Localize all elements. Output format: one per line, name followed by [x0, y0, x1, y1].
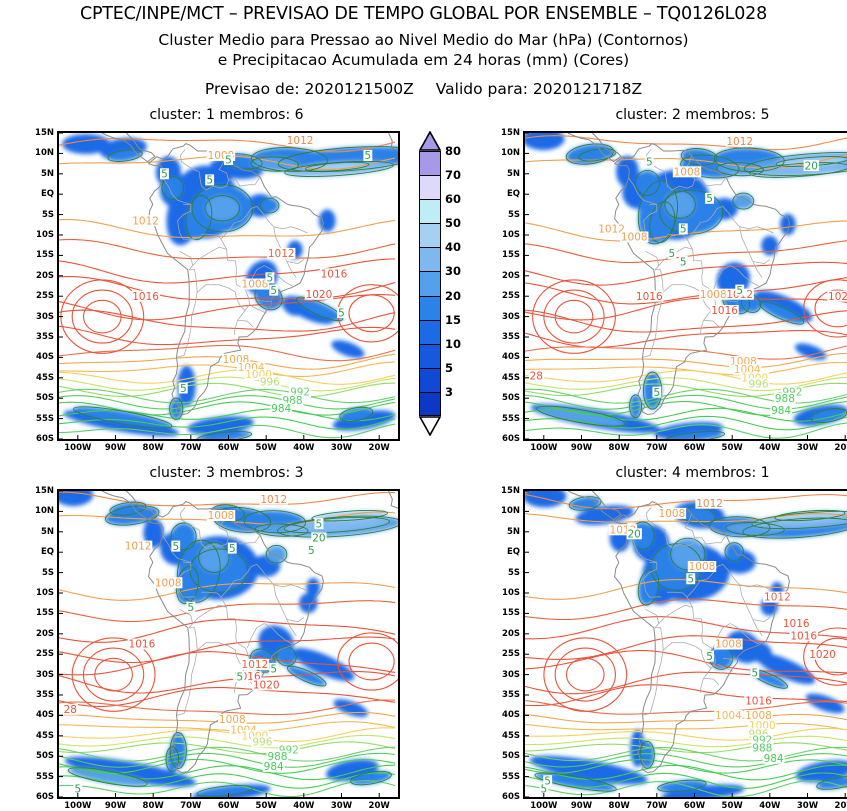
- svg-text:1016: 1016: [636, 291, 663, 303]
- svg-text:5: 5: [225, 154, 232, 166]
- y-axis-tick-label: 40S: [25, 352, 54, 362]
- y-axis-tick-label: 50S: [491, 393, 520, 403]
- x-axis-tick-label: 40W: [750, 443, 790, 453]
- x-axis-tick-label: 70W: [637, 443, 677, 453]
- y-axis-tick-label: 10N: [491, 148, 520, 158]
- colorbar-tick-label: 10: [445, 337, 461, 351]
- colorbar-tick-label: 50: [445, 216, 461, 230]
- svg-text:5: 5: [180, 383, 187, 395]
- x-axis-tick-label: 100W: [524, 443, 564, 453]
- panel-title-cluster-1: cluster: 1 membros: 6: [17, 107, 436, 123]
- svg-text:20: 20: [805, 160, 818, 172]
- x-axis-tick-label: 30W: [322, 443, 362, 453]
- y-axis-tick-label: 45S: [25, 373, 54, 383]
- y-axis-tick-label: 35S: [25, 690, 54, 700]
- y-axis-tick-label: 15S: [491, 608, 520, 618]
- svg-text:5: 5: [267, 273, 274, 285]
- x-axis-tick-label: 60W: [209, 443, 249, 453]
- colorbar-tick-label: 80: [445, 144, 461, 158]
- svg-text:1008: 1008: [689, 561, 716, 573]
- svg-text:1012: 1012: [132, 215, 159, 227]
- svg-text:5: 5: [316, 518, 323, 530]
- y-axis-tick-label: 50S: [25, 393, 54, 403]
- svg-text:5: 5: [270, 663, 277, 675]
- svg-text:1012: 1012: [287, 135, 314, 147]
- colorbar-segment: [419, 199, 441, 223]
- colorbar-tick-label: 15: [445, 313, 461, 327]
- svg-text:1016: 1016: [711, 305, 738, 317]
- svg-text:5: 5: [236, 671, 243, 683]
- y-axis-tick-label: 55S: [491, 772, 520, 782]
- y-axis-tick-label: 30S: [25, 670, 54, 680]
- colorbar-tick-label: 5: [445, 361, 453, 375]
- svg-text:5: 5: [270, 285, 277, 297]
- svg-text:1012: 1012: [125, 541, 152, 553]
- y-axis-tick-label: 5N: [491, 527, 520, 537]
- y-axis-tick-label: 15N: [491, 128, 520, 138]
- svg-text:28: 28: [64, 704, 77, 716]
- y-axis-tick-label: 15N: [25, 128, 54, 138]
- svg-text:1012: 1012: [242, 659, 269, 671]
- svg-text:20: 20: [312, 533, 325, 545]
- colorbar-extend-max-arrow: [419, 131, 441, 151]
- panel-title-cluster-4: cluster: 4 membros: 1: [483, 465, 847, 481]
- svg-text:1020: 1020: [306, 289, 333, 301]
- map-canvas: 1012100810121008101610081012101610201008…: [525, 133, 847, 439]
- colorbar-tick-label: 3: [445, 385, 453, 399]
- x-axis-tick-label: 60W: [675, 443, 715, 453]
- map-panel-cluster-2[interactable]: 1012100810121008101610081012101610201008…: [523, 131, 847, 441]
- svg-text:1012: 1012: [726, 136, 753, 148]
- colorbar-segment: [419, 296, 441, 320]
- y-axis-tick-label: EQ: [25, 189, 54, 199]
- y-axis-tick-label: 55S: [25, 772, 54, 782]
- y-axis-tick-label: 30S: [25, 312, 54, 322]
- precipitation-shading: [525, 491, 847, 797]
- y-axis-tick-label: 30S: [491, 312, 520, 322]
- svg-text:1012: 1012: [696, 498, 723, 510]
- svg-text:1008: 1008: [674, 166, 701, 178]
- svg-text:5: 5: [229, 543, 236, 555]
- x-axis-tick-label: 40W: [284, 443, 324, 453]
- isobar-labels: 1012100810121008101610081012101610201008…: [529, 136, 847, 417]
- x-axis-tick-label: 50W: [712, 443, 752, 453]
- x-axis-tick-label: 50W: [246, 443, 286, 453]
- svg-text:5: 5: [646, 156, 653, 168]
- colorbar-tick-label: 30: [445, 264, 461, 278]
- forecast-from: Previsao de: 2020121500Z: [205, 80, 414, 98]
- svg-text:996: 996: [260, 377, 280, 389]
- colorbar-segment: [419, 271, 441, 295]
- colorbar-tick-label: 60: [445, 192, 461, 206]
- y-axis-tick-label: 15S: [25, 250, 54, 260]
- y-axis-tick-label: 40S: [491, 352, 520, 362]
- y-axis-tick-label: 20S: [25, 271, 54, 281]
- y-axis-tick-label: 5N: [491, 169, 520, 179]
- svg-text:5: 5: [669, 248, 676, 260]
- svg-text:5: 5: [161, 169, 168, 181]
- chart-subtitle-line1: Cluster Medio para Pressao ao Nivel Medi…: [0, 31, 847, 51]
- x-axis-tick-label: 90W: [96, 443, 136, 453]
- chart-header: CPTEC/INPE/MCT – PREVISAO DE TEMPO GLOBA…: [0, 0, 847, 98]
- y-axis-tick-label: 30S: [491, 670, 520, 680]
- y-axis-tick-label: 50S: [25, 751, 54, 761]
- svg-text:5: 5: [338, 307, 345, 319]
- map-panel-cluster-1[interactable]: 1012100810121012101610081016102010081004…: [57, 131, 400, 441]
- svg-text:5: 5: [680, 224, 687, 236]
- svg-text:1008: 1008: [715, 639, 742, 651]
- colorbar-segment: [419, 344, 441, 368]
- y-axis-tick-label: 40S: [25, 710, 54, 720]
- x-axis-tick-label: 90W: [562, 443, 602, 453]
- y-axis-tick-label: 10S: [491, 588, 520, 598]
- y-axis-tick-label: 10N: [25, 148, 54, 158]
- colorbar-segment: [419, 320, 441, 344]
- svg-text:1008: 1008: [208, 510, 235, 522]
- svg-text:984: 984: [264, 761, 284, 773]
- y-axis-tick-label: 20S: [491, 629, 520, 639]
- y-axis-tick-label: 5N: [25, 527, 54, 537]
- map-canvas: 1012100810121008101210161008101610201016…: [525, 491, 847, 797]
- y-axis-tick-label: 5S: [25, 568, 54, 578]
- svg-text:988: 988: [775, 393, 795, 405]
- y-axis-tick-label: EQ: [491, 547, 520, 557]
- svg-text:5: 5: [687, 574, 694, 586]
- y-axis-tick-label: 5S: [25, 210, 54, 220]
- svg-text:1020: 1020: [828, 291, 847, 303]
- y-axis-tick-label: 35S: [25, 332, 54, 342]
- svg-text:1008: 1008: [700, 289, 727, 301]
- svg-text:996: 996: [748, 379, 768, 391]
- svg-text:1016: 1016: [129, 639, 156, 651]
- y-axis-tick-label: 15S: [491, 250, 520, 260]
- y-axis-tick-label: 10S: [25, 588, 54, 598]
- svg-text:5: 5: [172, 541, 179, 553]
- y-axis-tick-label: 35S: [491, 690, 520, 700]
- chart-subtitle: Cluster Medio para Pressao ao Nivel Medi…: [0, 31, 847, 71]
- x-axis-tick-label: 30W: [788, 443, 828, 453]
- svg-text:5: 5: [680, 256, 687, 268]
- svg-text:5: 5: [308, 545, 315, 557]
- y-axis-tick-label: 40S: [491, 710, 520, 720]
- institution-title: CPTEC/INPE/MCT – PREVISAO DE TEMPO GLOBA…: [0, 4, 847, 24]
- y-axis-tick-label: EQ: [491, 189, 520, 199]
- svg-text:1004: 1004: [715, 710, 742, 722]
- x-axis-tick-label: 100W: [58, 443, 98, 453]
- y-axis-tick-label: 10N: [491, 506, 520, 516]
- y-axis-tick-label: 55S: [491, 414, 520, 424]
- svg-text:996: 996: [252, 737, 272, 749]
- y-axis-tick-label: EQ: [25, 547, 54, 557]
- svg-text:5: 5: [206, 175, 213, 187]
- y-axis-tick-label: 60S: [25, 434, 54, 444]
- y-axis-tick-label: 35S: [491, 332, 520, 342]
- y-axis-tick-label: 10N: [25, 506, 54, 516]
- svg-text:984: 984: [764, 753, 784, 765]
- forecast-dates: Previsao de: 2020121500ZValido para: 202…: [0, 80, 847, 98]
- colorbar-tick-label: 20: [445, 289, 461, 303]
- svg-text:1020: 1020: [809, 649, 836, 661]
- svg-text:5: 5: [706, 651, 713, 663]
- x-axis-tick-label: 80W: [599, 443, 639, 453]
- y-axis-tick-label: 60S: [25, 792, 54, 802]
- map-canvas: 1012100810121008101610121016102010081004…: [59, 491, 398, 797]
- svg-text:5: 5: [736, 285, 743, 297]
- y-axis-tick-label: 5S: [491, 568, 520, 578]
- svg-text:1008: 1008: [659, 508, 686, 520]
- y-axis-tick-label: 50S: [491, 751, 520, 761]
- precipitation-colorbar: 35101520304050607080: [419, 131, 441, 436]
- svg-text:1008: 1008: [155, 577, 182, 589]
- y-axis-tick-label: 25S: [25, 649, 54, 659]
- svg-text:1016: 1016: [132, 291, 159, 303]
- y-axis-tick-label: 15S: [25, 608, 54, 618]
- svg-text:1008: 1008: [242, 279, 269, 291]
- svg-text:5: 5: [751, 667, 758, 679]
- y-axis-tick-label: 45S: [25, 731, 54, 741]
- colorbar-segment: [419, 392, 441, 416]
- y-axis-tick-label: 25S: [25, 291, 54, 301]
- svg-text:1012: 1012: [260, 494, 287, 506]
- y-axis-tick-label: 45S: [491, 373, 520, 383]
- y-axis-tick-label: 5N: [25, 169, 54, 179]
- y-axis-tick-label: 20S: [491, 271, 520, 281]
- svg-text:1016: 1016: [745, 696, 772, 708]
- x-axis-tick-label: 20W: [825, 443, 847, 453]
- x-axis-tick-label: 80W: [133, 443, 173, 453]
- svg-text:1016: 1016: [783, 618, 810, 630]
- y-axis-tick-label: 10S: [25, 230, 54, 240]
- y-axis-tick-label: 20S: [25, 629, 54, 639]
- colorbar-segment: [419, 368, 441, 392]
- svg-text:1016: 1016: [321, 268, 348, 280]
- y-axis-tick-label: 15N: [25, 486, 54, 496]
- map-canvas: 1012100810121012101610081016102010081004…: [59, 133, 398, 439]
- svg-text:1012: 1012: [764, 592, 791, 604]
- svg-text:1020: 1020: [253, 679, 280, 691]
- y-axis-tick-label: 60S: [491, 792, 520, 802]
- panel-title-cluster-2: cluster: 2 membros: 5: [483, 107, 847, 123]
- colorbar-extend-min-arrow: [419, 416, 441, 436]
- y-axis-tick-label: 25S: [491, 649, 520, 659]
- svg-text:5: 5: [653, 387, 660, 399]
- svg-text:984: 984: [771, 405, 791, 417]
- map-panel-cluster-4[interactable]: 1012100810121008101210161008101610201016…: [523, 489, 847, 799]
- svg-text:1016: 1016: [790, 630, 817, 642]
- colorbar-segment: [419, 223, 441, 247]
- y-axis-tick-label: 45S: [491, 731, 520, 741]
- svg-text:1012: 1012: [268, 248, 295, 260]
- svg-text:1008: 1008: [621, 232, 648, 244]
- svg-text:5: 5: [706, 193, 713, 205]
- colorbar-segment: [419, 247, 441, 271]
- x-axis-tick-label: 20W: [359, 443, 399, 453]
- y-axis-tick-label: 15N: [491, 486, 520, 496]
- colorbar-tick-label: 70: [445, 168, 461, 182]
- y-axis-tick-label: 60S: [491, 434, 520, 444]
- svg-text:984: 984: [271, 403, 291, 415]
- colorbar-segment: [419, 151, 441, 175]
- x-axis-tick-label: 70W: [171, 443, 211, 453]
- y-axis-tick-label: 5S: [491, 210, 520, 220]
- chart-subtitle-line2: e Precipitacao Acumulada em 24 horas (mm…: [0, 51, 847, 71]
- panel-title-cluster-3: cluster: 3 membros: 3: [17, 465, 436, 481]
- svg-text:5: 5: [544, 776, 551, 788]
- y-axis-tick-label: 55S: [25, 414, 54, 424]
- y-axis-tick-label: 25S: [491, 291, 520, 301]
- colorbar-tick-label: 40: [445, 240, 461, 254]
- valid-for: Valido para: 2020121718Z: [436, 80, 642, 98]
- colorbar-segment: [419, 175, 441, 199]
- map-panel-cluster-3[interactable]: 1012100810121008101610121016102010081004…: [57, 489, 400, 799]
- y-axis-tick-label: 10S: [491, 230, 520, 240]
- svg-text:5: 5: [365, 150, 372, 162]
- svg-text:5: 5: [187, 602, 194, 614]
- svg-text:20: 20: [628, 529, 641, 541]
- svg-text:28: 28: [530, 370, 543, 382]
